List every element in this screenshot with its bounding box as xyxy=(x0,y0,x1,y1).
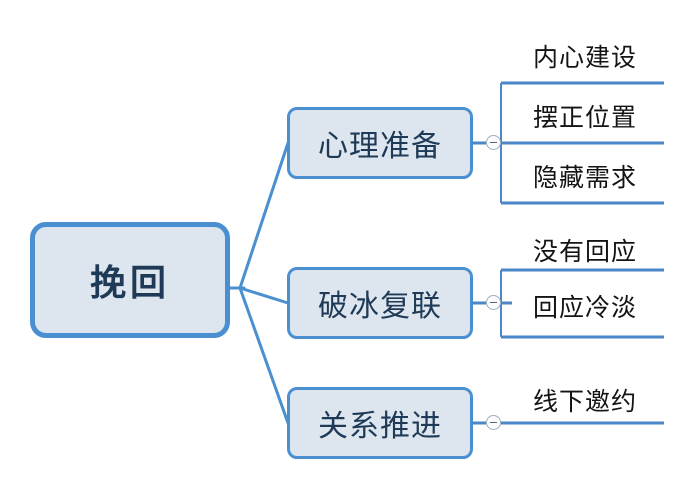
mindmap-branch-node-1[interactable]: 破冰复联 xyxy=(287,267,473,339)
leaf-label-0-0[interactable]: 内心建设 xyxy=(533,38,637,74)
root-node-label: 挽回 xyxy=(90,254,170,306)
mindmap-branch-node-2[interactable]: 关系推进 xyxy=(287,387,473,459)
edge-root-to-branch-0 xyxy=(240,143,288,288)
mindmap-branch-node-0[interactable]: 心理准备 xyxy=(287,107,473,179)
edge-root-to-branch-1 xyxy=(240,288,288,303)
mindmap-canvas: 挽回 心理准备 破冰复联 关系推进 内心建设 摆正位置 隐藏需求 没有回应 回应… xyxy=(0,0,700,488)
mindmap-root-node[interactable]: 挽回 xyxy=(30,222,230,338)
leaf-label-1-0[interactable]: 没有回应 xyxy=(533,232,637,268)
edge-root-to-branch-2 xyxy=(240,288,288,423)
leaf-label-0-1[interactable]: 摆正位置 xyxy=(533,98,637,134)
branch-node-2-label: 关系推进 xyxy=(318,401,442,445)
collapse-toggle-icon-branch-0[interactable] xyxy=(486,135,501,150)
branch-node-1-label: 破冰复联 xyxy=(318,281,442,325)
leaf-label-1-1[interactable]: 回应冷淡 xyxy=(533,288,637,324)
branch-node-0-label: 心理准备 xyxy=(318,121,442,165)
collapse-toggle-icon-branch-1[interactable] xyxy=(486,295,501,310)
leaf-label-0-2[interactable]: 隐藏需求 xyxy=(533,158,637,194)
collapse-toggle-icon-branch-2[interactable] xyxy=(486,415,501,430)
leaf-label-2-0[interactable]: 线下邀约 xyxy=(533,382,637,418)
